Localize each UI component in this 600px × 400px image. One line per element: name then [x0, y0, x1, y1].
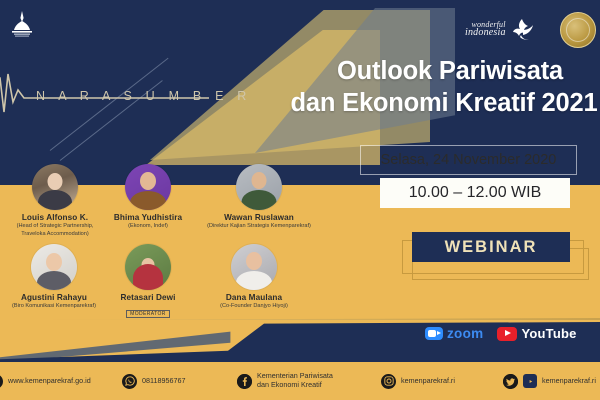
- contact-facebook-text: Kementerian Pariwisata dan Ekonomi Kreat…: [257, 372, 333, 389]
- wonderful-indonesia-logo: wonderful indonesia: [465, 14, 535, 44]
- contact-instagram-text: kemenparekraf.ri: [401, 377, 455, 386]
- kemenparekraf-logo: [5, 4, 39, 44]
- speaker-card: Dana Maulana (Co-Founder Danjyo Hiyoji): [184, 244, 324, 310]
- contact-whatsapp[interactable]: 08118956767: [122, 374, 185, 389]
- event-date: Selasa, 24 November 2020: [360, 145, 577, 175]
- avatar: [125, 244, 171, 290]
- speaker-grid: Louis Alfonso K. (Head of Strategic Part…: [0, 160, 340, 320]
- globe-icon: [0, 374, 3, 389]
- speaker-name: Wawan Ruslawan: [184, 213, 334, 222]
- contact-whatsapp-text: 08118956767: [142, 377, 185, 386]
- platform-list: zoom YouTube: [425, 326, 577, 341]
- wonderful-indonesia-line2: indonesia: [465, 29, 506, 38]
- youtube-icon: [523, 374, 537, 388]
- speaker-role-line2: Traveloka Accommodation): [0, 231, 114, 238]
- status-badge: MODERATOR: [126, 310, 170, 318]
- platform-zoom[interactable]: zoom: [425, 326, 483, 341]
- event-time: 10.00 – 12.00 WIB: [380, 178, 570, 208]
- platform-zoom-label: zoom: [447, 326, 483, 341]
- webinar-poster: wonderful indonesia N A R A S U M B E R …: [0, 0, 600, 400]
- avatar: [125, 164, 171, 210]
- republic-seal-logo: [560, 12, 596, 48]
- speaker-role-line1: (Direktur Kajian Strategis Kemenparekraf…: [184, 223, 334, 230]
- speaker-role-line1: (Co-Founder Danjyo Hiyoji): [184, 303, 324, 310]
- headline-line-1: Outlook Pariwisata: [300, 55, 600, 87]
- webinar-button[interactable]: WEBINAR: [412, 232, 570, 262]
- twitter-icon: [503, 374, 518, 389]
- instagram-icon: [381, 374, 396, 389]
- platform-youtube[interactable]: YouTube: [497, 326, 576, 341]
- youtube-icon: [497, 327, 517, 341]
- wonderful-indonesia-mark: [509, 17, 535, 41]
- zoom-icon: [425, 327, 443, 340]
- speaker-name: Dana Maulana: [184, 293, 324, 302]
- contact-instagram[interactable]: kemenparekraf.ri: [381, 374, 455, 389]
- whatsapp-icon: [122, 374, 137, 389]
- headline-line-2: dan Ekonomi Kreatif 2021: [288, 87, 600, 119]
- footer-contact-bar: www.kemenparekraf.go.id 08118956767 Keme…: [0, 362, 600, 400]
- contact-website-text: www.kemenparekraf.go.id: [8, 377, 91, 386]
- avatar: [231, 244, 277, 290]
- contact-twitter-text: kemenparekraf.ri: [542, 377, 596, 386]
- contact-twitter-youtube[interactable]: kemenparekraf.ri: [503, 374, 596, 389]
- avatar: [32, 164, 78, 210]
- narasumber-label: N A R A S U M B E R: [36, 89, 252, 103]
- speaker-card: Wawan Ruslawan (Direktur Kajian Strategi…: [184, 164, 334, 230]
- platform-youtube-label: YouTube: [521, 326, 576, 341]
- avatar: [31, 244, 77, 290]
- contact-website[interactable]: www.kemenparekraf.go.id: [0, 374, 91, 389]
- avatar: [236, 164, 282, 210]
- contact-facebook-line2: dan Ekonomi Kreatif: [257, 380, 322, 389]
- contact-facebook[interactable]: Kementerian Pariwisata dan Ekonomi Kreat…: [237, 372, 333, 389]
- page-title: Outlook Pariwisata dan Ekonomi Kreatif 2…: [300, 55, 600, 119]
- facebook-icon: [237, 374, 252, 389]
